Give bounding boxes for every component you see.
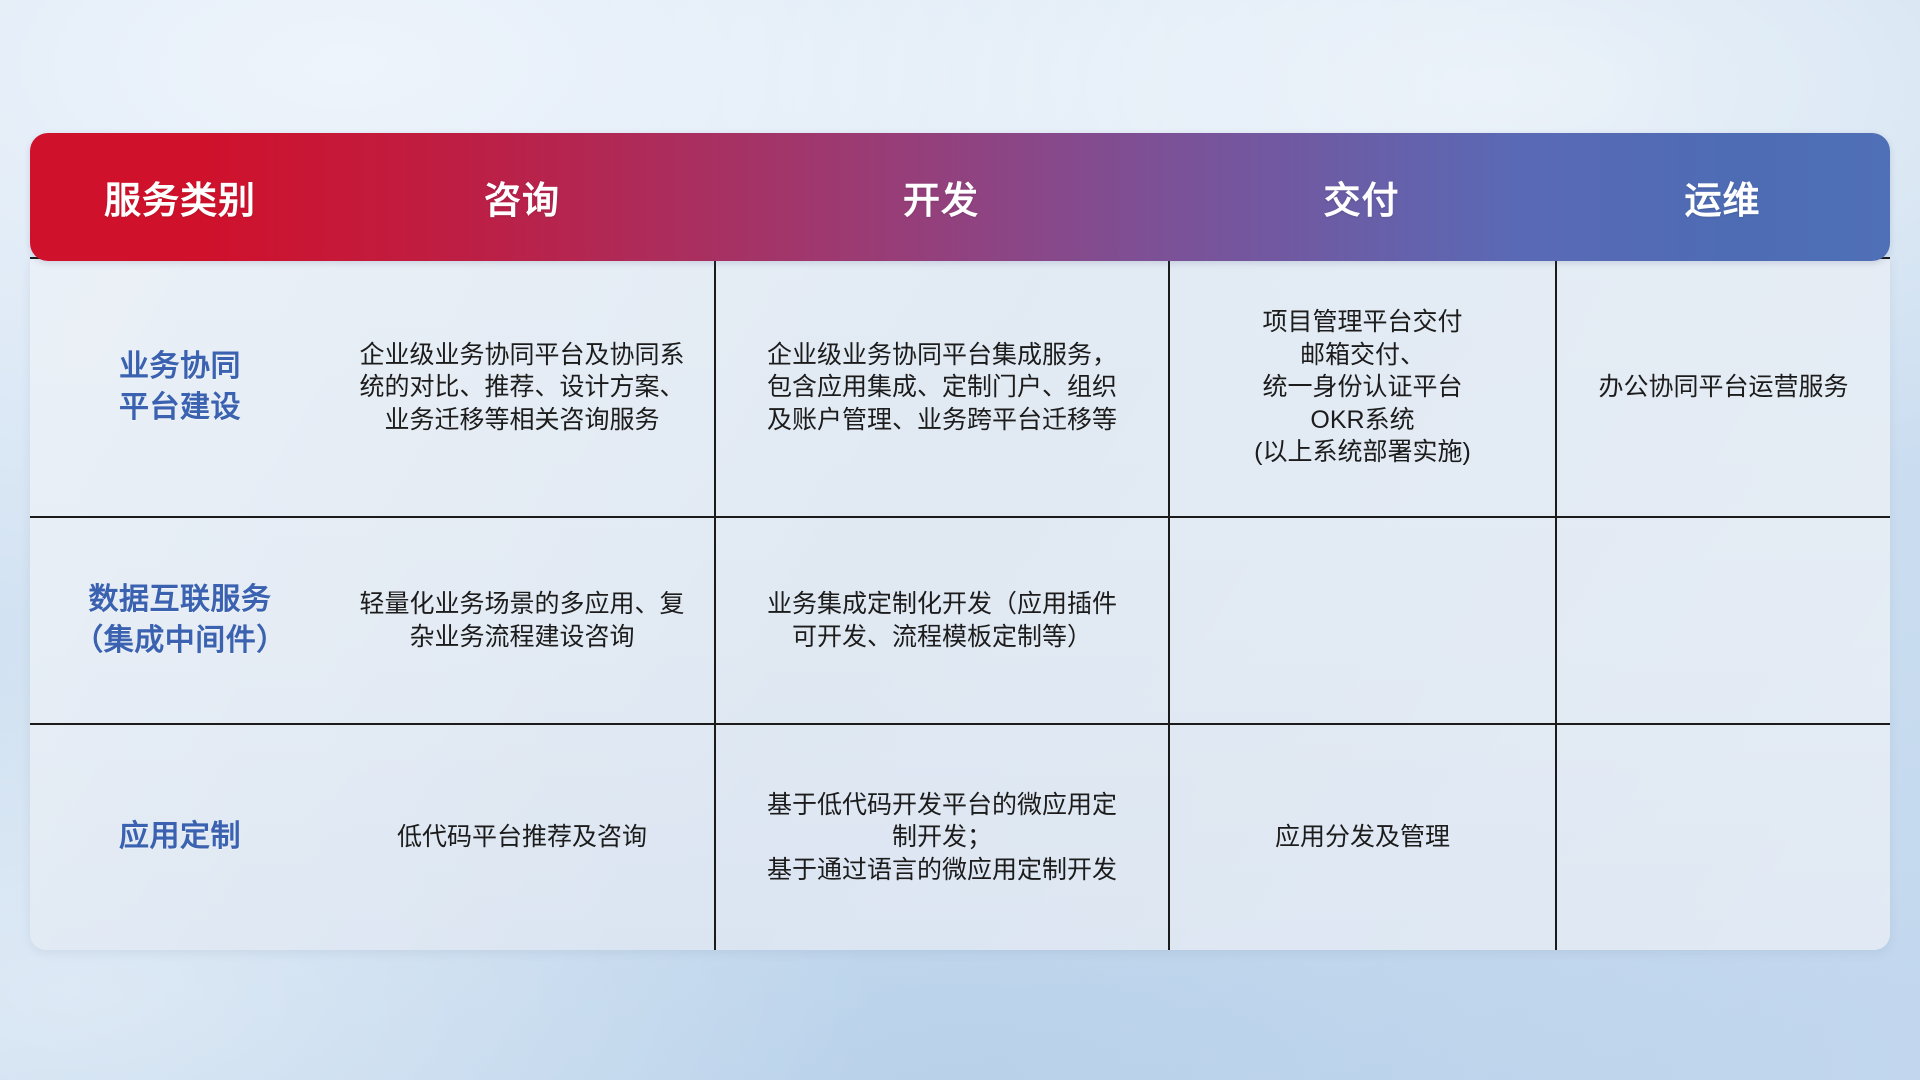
slide-canvas: 服务类别 咨询 开发 交付 运维 业务协同 平台建设 企业级业务协同平台及协同系…	[0, 0, 1920, 1080]
table-row: 业务协同 平台建设 企业级业务协同平台及协同系 统的对比、推荐、设计方案、 业务…	[30, 257, 1890, 516]
cell-delivery: 应用分发及管理	[1168, 725, 1555, 950]
cell-operations	[1555, 518, 1890, 723]
cell-category: 业务协同 平台建设	[30, 259, 330, 516]
cell-consulting: 企业级业务协同平台及协同系 统的对比、推荐、设计方案、 业务迁移等相关咨询服务	[330, 259, 714, 516]
cell-development: 业务集成定制化开发（应用插件 可开发、流程模板定制等）	[714, 518, 1168, 723]
cell-consulting: 轻量化业务场景的多应用、复 杂业务流程建设咨询	[330, 518, 714, 723]
cell-category: 应用定制	[30, 725, 330, 950]
cell-delivery: 项目管理平台交付 邮箱交付、 统一身份认证平台 OKR系统 (以上系统部署实施)	[1168, 259, 1555, 516]
table-body: 业务协同 平台建设 企业级业务协同平台及协同系 统的对比、推荐、设计方案、 业务…	[30, 257, 1890, 950]
column-header-category: 服务类别	[30, 170, 330, 224]
cell-development: 企业级业务协同平台集成服务， 包含应用集成、定制门户、组织 及账户管理、业务跨平…	[714, 259, 1168, 516]
cell-consulting: 低代码平台推荐及咨询	[330, 725, 714, 950]
table-row: 应用定制 低代码平台推荐及咨询 基于低代码开发平台的微应用定 制开发； 基于通过…	[30, 723, 1890, 950]
table-header-row: 服务类别 咨询 开发 交付 运维	[30, 133, 1890, 261]
column-header-consulting: 咨询	[330, 170, 714, 224]
column-header-delivery: 交付	[1168, 170, 1555, 224]
cell-development: 基于低代码开发平台的微应用定 制开发； 基于通过语言的微应用定制开发	[714, 725, 1168, 950]
table-row: 数据互联服务 （集成中间件） 轻量化业务场景的多应用、复 杂业务流程建设咨询 业…	[30, 516, 1890, 723]
column-header-operations: 运维	[1555, 170, 1890, 224]
cell-operations	[1555, 725, 1890, 950]
cell-category: 数据互联服务 （集成中间件）	[30, 518, 330, 723]
cell-delivery	[1168, 518, 1555, 723]
service-matrix-table: 服务类别 咨询 开发 交付 运维 业务协同 平台建设 企业级业务协同平台及协同系…	[30, 133, 1890, 950]
cell-operations: 办公协同平台运营服务	[1555, 259, 1890, 516]
column-header-development: 开发	[714, 170, 1168, 224]
